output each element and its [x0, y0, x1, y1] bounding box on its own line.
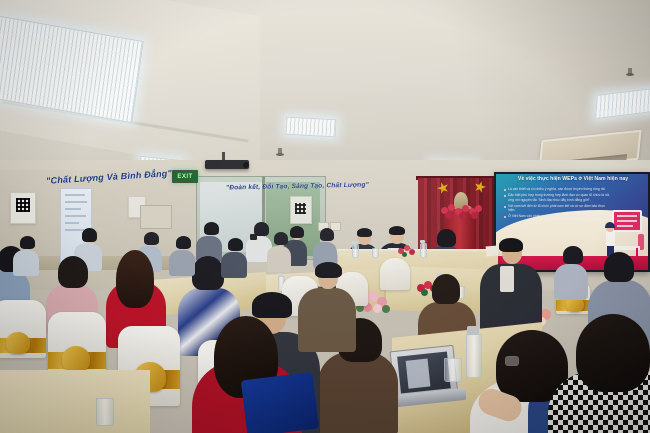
exit-sign-label: EXIT [177, 174, 192, 180]
dress-shirt [500, 266, 514, 292]
bottle-cap [278, 273, 283, 276]
drinking-glass [96, 398, 114, 426]
bullet-dot-icon [504, 206, 506, 208]
water-bottle [352, 244, 359, 258]
bullet-dot-icon [504, 189, 506, 191]
exit-sign: EXIT [172, 170, 198, 183]
chair-sash-knot [62, 346, 90, 372]
qr-poster [10, 192, 36, 224]
sprinkler-icon [278, 148, 282, 156]
camera-icon [250, 234, 257, 240]
blue-bag [241, 372, 319, 433]
drinking-glass [372, 248, 379, 258]
qr-code-icon [16, 198, 30, 212]
water-bottle [466, 334, 482, 378]
bottle-cap [420, 240, 425, 243]
qr-poster [290, 196, 312, 224]
chair-cover [380, 258, 410, 290]
paper-document [486, 245, 499, 256]
slide-title: Về việc thực hiện WEPs ở Việt Nam hiện n… [502, 177, 644, 183]
light-panel-icon [286, 117, 337, 138]
foreground-table-left [0, 370, 150, 433]
eyeglasses-icon [505, 356, 519, 366]
bottle-cap [352, 241, 357, 244]
bottle-cap [467, 326, 479, 335]
slide-illustration-body [606, 231, 615, 246]
slide-bullet-list: Là cần thiết và có nhiều ý nghĩa, cần đư… [504, 187, 612, 221]
bullet-dot-icon [504, 195, 506, 197]
laptop-document [406, 359, 431, 389]
slide-bullet: Đặc biệt phù hợp trong trường hợp lãnh đ… [508, 193, 612, 202]
slide-illustration-monitor [612, 210, 642, 232]
panel-table-flowers [398, 244, 414, 256]
drinking-glass [444, 358, 462, 382]
bullet-dot-icon [504, 216, 506, 218]
laptop-display [397, 351, 451, 393]
sprinkler-icon [628, 68, 632, 76]
slide-bullet: Với cam kết đến từ tổ chức phải cam kết … [508, 204, 612, 213]
slide-bullet: Là cần thiết và có nhiều ý nghĩa, cần đư… [508, 187, 605, 191]
wall-notice-board [140, 205, 172, 229]
projector-lens [243, 162, 249, 168]
chair-sash-knot [6, 332, 30, 354]
water-bottle [420, 243, 427, 258]
podium-flowers [441, 204, 483, 218]
slide-bullet: Ở Việt Nam còn nhiều hạn chế và vẫn còn … [508, 214, 608, 218]
conference-room-photo: EXIT "Chất Lượng Và Bình Đẳng" "Đoàn kết… [0, 0, 650, 433]
slide-illustration-hair [605, 222, 615, 228]
qr-code-icon [295, 203, 306, 214]
slide-illustration-desk-leg [636, 248, 638, 256]
